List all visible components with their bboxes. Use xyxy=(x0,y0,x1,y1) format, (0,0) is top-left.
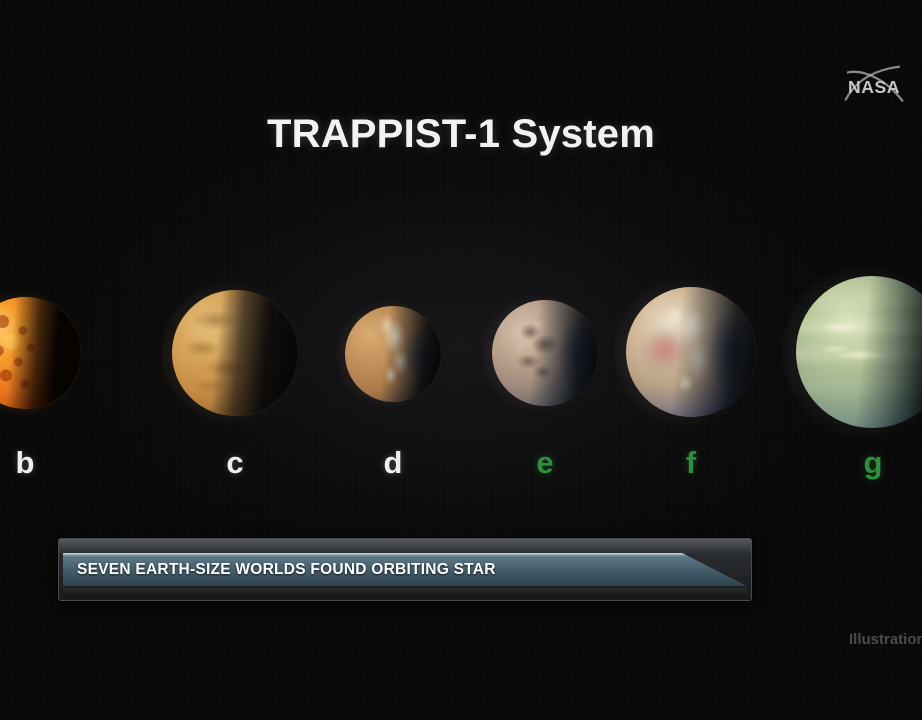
lower-third-banner: SEVEN EARTH-SIZE WORLDS FOUND ORBITING S… xyxy=(58,538,752,601)
banner-sheen xyxy=(59,539,751,555)
planet-b xyxy=(0,297,81,409)
page-title: TRAPPIST-1 System xyxy=(0,112,922,157)
planet-f xyxy=(626,287,756,417)
planet-d xyxy=(345,306,441,402)
planet-g-terminator xyxy=(796,276,922,428)
planet-c-terminator xyxy=(172,290,298,416)
banner-headline-bar: SEVEN EARTH-SIZE WORLDS FOUND ORBITING S… xyxy=(63,553,747,586)
planet-b-terminator xyxy=(0,297,81,409)
planet-e xyxy=(492,300,598,406)
planet-c xyxy=(172,290,298,416)
broadcast-frame: NASA TRAPPIST-1 System b c d xyxy=(0,0,922,720)
planet-e-terminator xyxy=(492,300,598,406)
planet-g xyxy=(796,276,922,428)
planet-label-e: e xyxy=(510,447,580,478)
planet-label-g: g xyxy=(838,447,908,478)
svg-text:NASA: NASA xyxy=(848,77,900,97)
banner-headline-text: SEVEN EARTH-SIZE WORLDS FOUND ORBITING S… xyxy=(77,553,496,586)
illustration-credit: Illustration xyxy=(849,631,922,648)
background-starfield xyxy=(0,0,922,720)
nasa-logo-icon: NASA xyxy=(840,57,908,115)
planet-label-c: c xyxy=(200,447,270,478)
planet-label-b: b xyxy=(0,447,60,478)
planet-f-terminator xyxy=(626,287,756,417)
planet-d-terminator xyxy=(345,306,441,402)
banner-footer-strip xyxy=(63,588,747,597)
planet-label-d: d xyxy=(358,447,428,478)
planet-label-f: f xyxy=(656,447,726,478)
